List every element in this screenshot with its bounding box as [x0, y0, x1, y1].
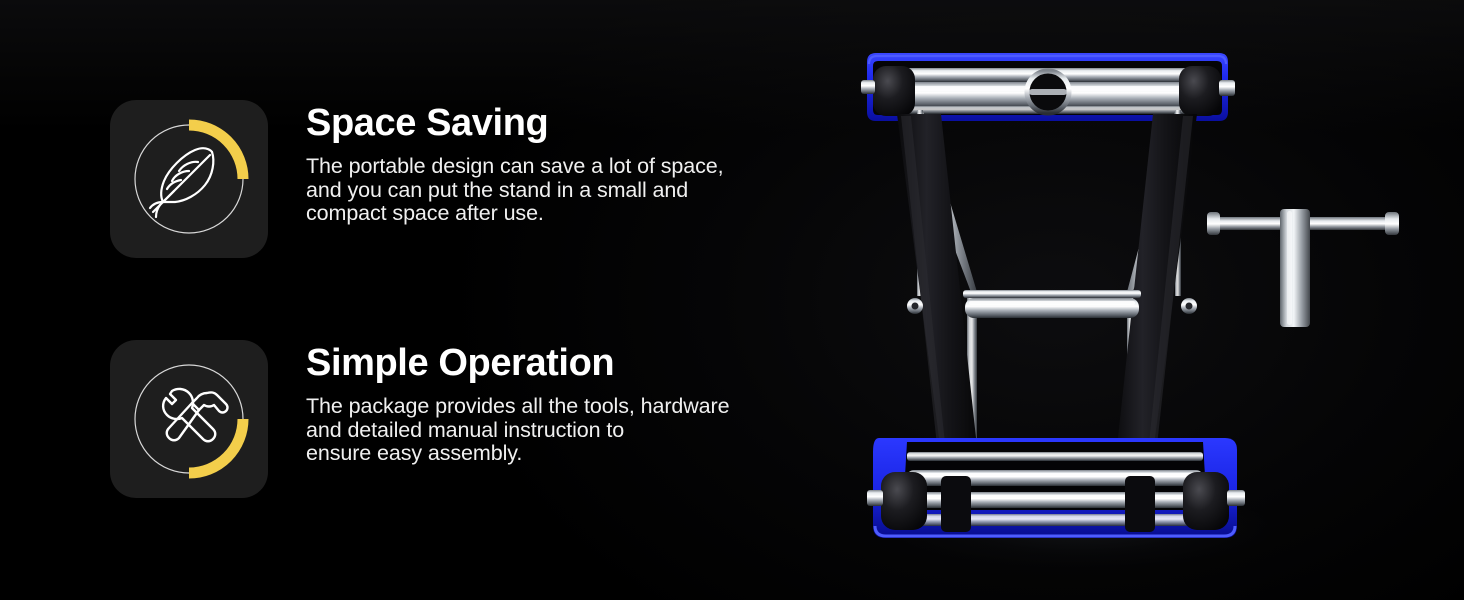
- feature-title: Simple Operation: [306, 344, 729, 382]
- accessory-t-handle-tool: [1205, 195, 1400, 345]
- feature-list: Space Saving The portable design can sav…: [0, 0, 840, 600]
- feature-text-block: Space Saving The portable design can sav…: [306, 100, 724, 226]
- feature-description: The package provides all the tools, hard…: [306, 395, 729, 466]
- product-feature-banner: Space Saving The portable design can sav…: [0, 0, 1464, 600]
- feature-text-block: Simple Operation The package provides al…: [306, 340, 729, 466]
- feature-description: The portable design can save a lot of sp…: [306, 155, 724, 226]
- product-top-roller: [893, 68, 1201, 114]
- feature-item-space-saving: Space Saving The portable design can sav…: [110, 100, 724, 258]
- feature-item-simple-operation: Simple Operation The package provides al…: [110, 340, 729, 498]
- feature-icon-tile: [110, 340, 268, 498]
- feather-icon: [129, 119, 249, 239]
- wrench-hammer-icon: [129, 359, 249, 479]
- feature-icon-tile: [110, 100, 268, 258]
- feature-title: Space Saving: [306, 104, 724, 142]
